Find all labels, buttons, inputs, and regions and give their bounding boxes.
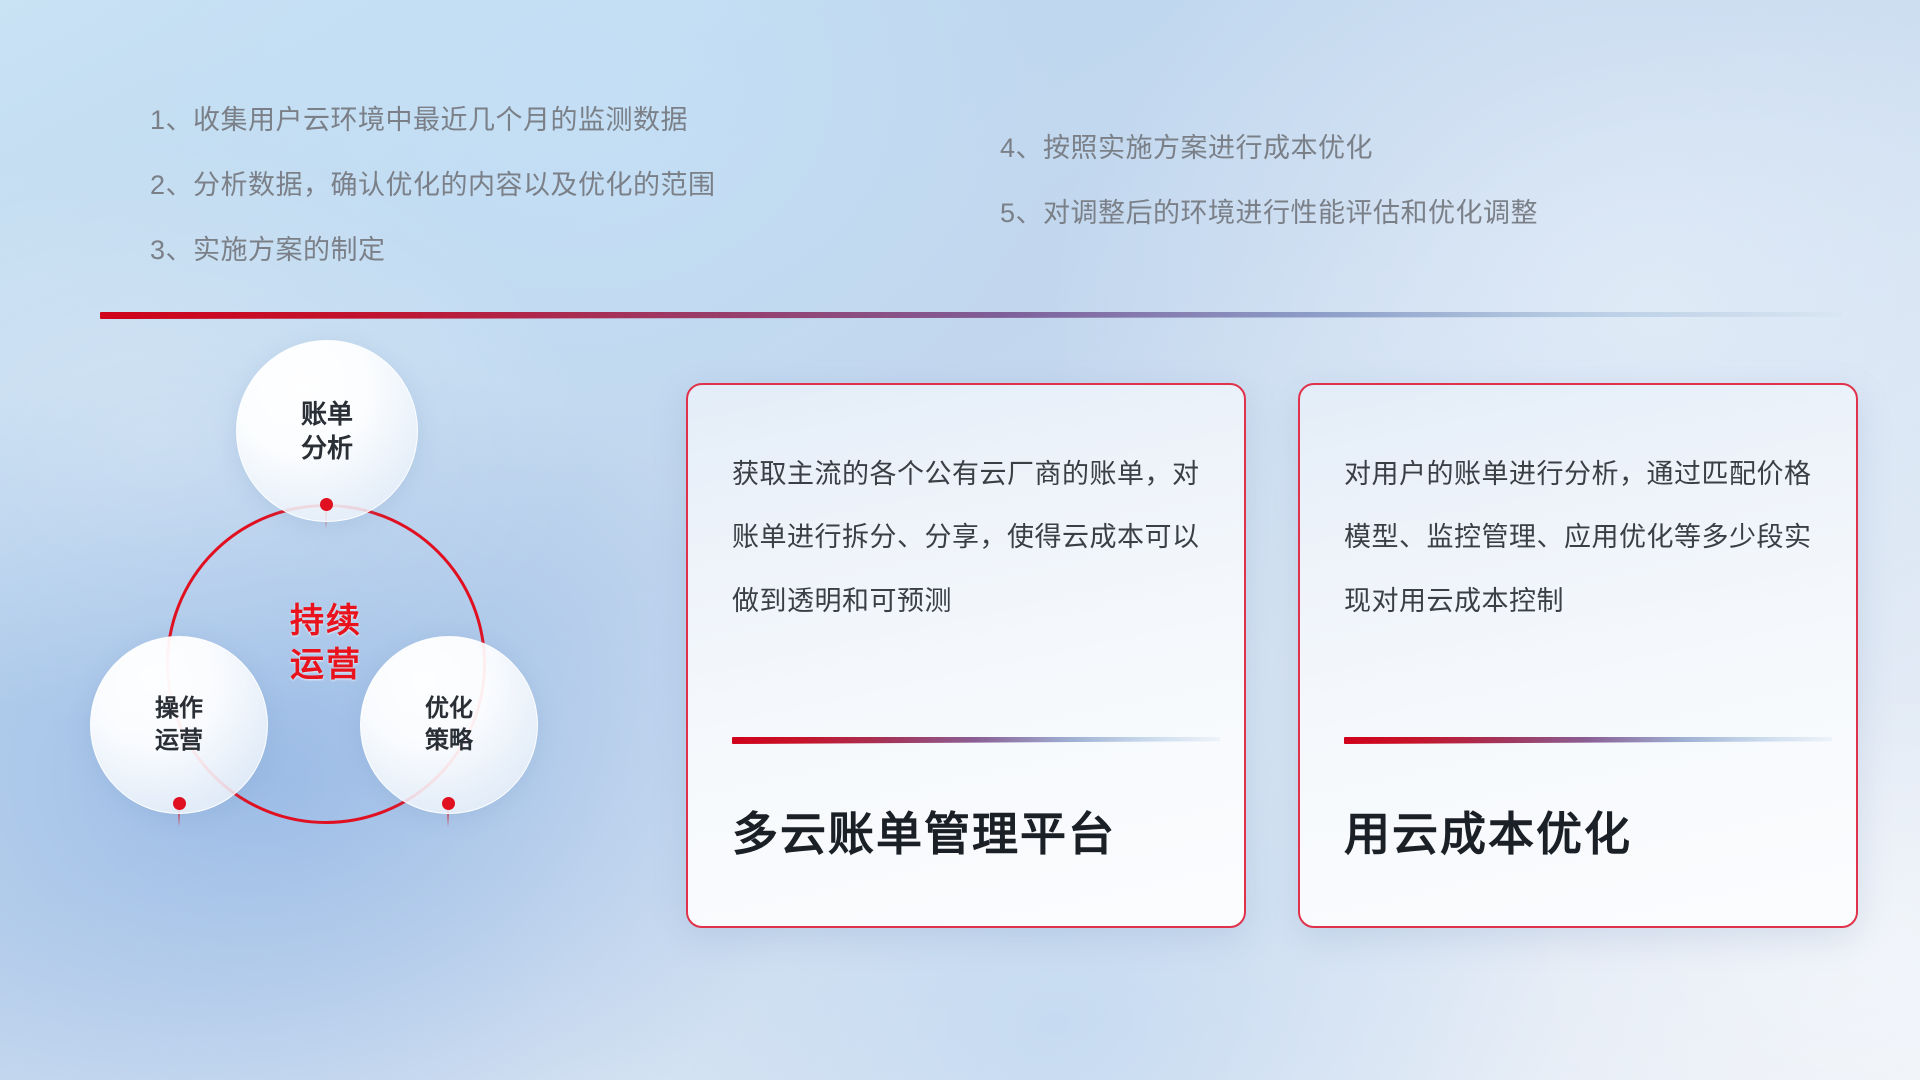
bubble-bill-analysis[interactable]: 账单 分析 <box>236 340 418 522</box>
card-1-title: 多云账单管理平台 <box>732 798 1200 864</box>
bullet-item-4: 4、按照实施方案进行成本优化 <box>1000 126 1538 165</box>
marker-dot-top <box>320 498 333 511</box>
slide-canvas: 1、收集用户云环境中最近几个月的监测数据 2、分析数据，确认优化的内容以及优化的… <box>0 0 1920 1080</box>
section-divider-rule <box>100 312 1842 319</box>
bullet-item-1: 1、收集用户云环境中最近几个月的监测数据 <box>150 98 716 137</box>
card-1-divider <box>732 737 1220 744</box>
marker-dot-bottom-right <box>442 797 455 810</box>
bullet-list-left: 1、收集用户云环境中最近几个月的监测数据 2、分析数据，确认优化的内容以及优化的… <box>150 98 716 293</box>
diagram-center-label: 持续 运营 <box>236 600 416 687</box>
bullet-list-right: 4、按照实施方案进行成本优化 5、对调整后的环境进行性能评估和优化调整 <box>1000 126 1538 256</box>
bullet-item-5: 5、对调整后的环境进行性能评估和优化调整 <box>1000 191 1538 230</box>
bullet-item-2: 2、分析数据，确认优化的内容以及优化的范围 <box>150 163 716 202</box>
card-multi-cloud-billing-platform[interactable]: 获取主流的各个公有云厂商的账单，对账单进行拆分、分享，使得云成本可以做到透明和可… <box>686 383 1246 928</box>
bubble-bottom-left-label: 操作 运营 <box>155 693 203 756</box>
card-cloud-cost-optimization[interactable]: 对用户的账单进行分析，通过匹配价格模型、监控管理、应用优化等多少段实现对用云成本… <box>1298 383 1858 928</box>
bubble-bottom-right-label: 优化 策略 <box>425 693 473 756</box>
bubble-top-label: 账单 分析 <box>301 397 353 466</box>
marker-dot-bottom-left <box>173 797 186 810</box>
card-2-body: 对用户的账单进行分析，通过匹配价格模型、监控管理、应用优化等多少段实现对用云成本… <box>1344 443 1812 689</box>
card-2-title: 用云成本优化 <box>1344 798 1812 864</box>
continuous-operation-diagram: 账单 分析 操作 运营 优化 策略 持续 运营 <box>90 340 610 940</box>
card-2-divider <box>1344 737 1832 744</box>
card-1-body: 获取主流的各个公有云厂商的账单，对账单进行拆分、分享，使得云成本可以做到透明和可… <box>732 443 1200 689</box>
bullet-item-3: 3、实施方案的制定 <box>150 228 716 267</box>
